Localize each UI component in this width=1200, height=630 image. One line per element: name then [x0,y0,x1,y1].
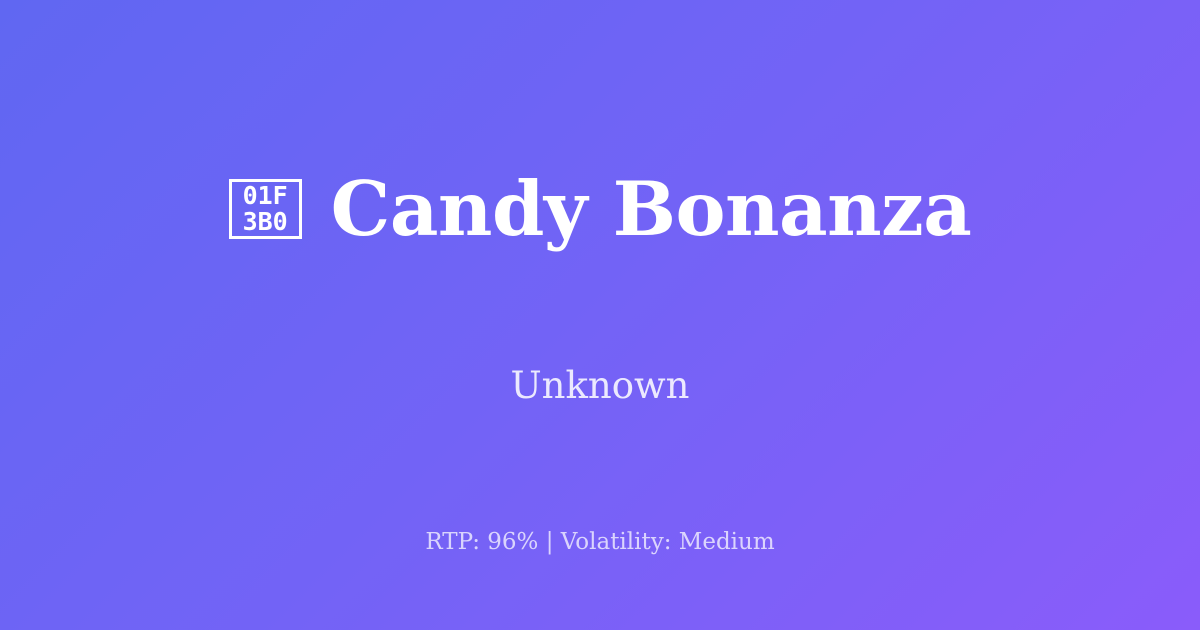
slot-machine-emoji-icon: 01F 3B0 [229,179,302,239]
codepoint-row-top: 01F [243,183,288,209]
og-share-card: 01F 3B0 Candy Bonanza Unknown RTP: 96% |… [0,0,1200,630]
game-provider-subtitle: Unknown [0,362,1200,410]
codepoint-row-bottom: 3B0 [243,209,288,235]
page-title: Candy Bonanza [331,167,972,251]
game-stats-line: RTP: 96% | Volatility: Medium [0,526,1200,558]
title-line: 01F 3B0 Candy Bonanza [0,167,1200,251]
